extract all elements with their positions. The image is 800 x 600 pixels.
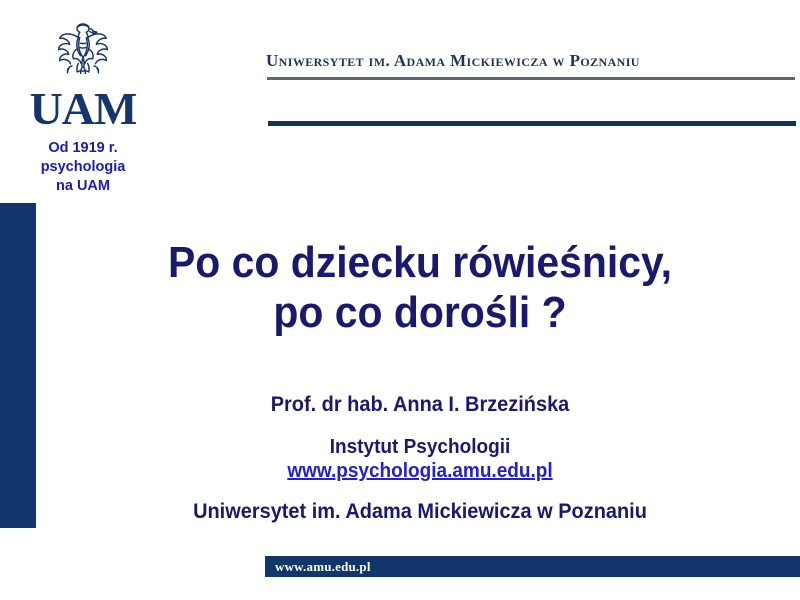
footer-url: www.amu.edu.pl xyxy=(275,559,371,575)
header-rule-navy xyxy=(268,121,796,126)
title-line-2: po co dorośli ? xyxy=(85,288,755,338)
affiliation-university: Uniwersytet im. Adama Mickiewicza w Pozn… xyxy=(78,500,762,523)
left-accent-bar xyxy=(0,203,36,528)
psychology-tagline: Od 1919 r. psychologia na UAM xyxy=(8,139,158,196)
institute-name: Instytut Psychologii xyxy=(78,436,762,459)
title-slide: UAM Od 1919 r. psychologia na UAM Uniwer… xyxy=(0,0,800,600)
polish-eagle-emblem-icon xyxy=(40,18,126,92)
uam-wordmark: UAM xyxy=(8,86,158,132)
university-header: Uniwersytet im. Adama Mickiewicza w Pozn… xyxy=(266,51,640,71)
tagline-line-1: Od 1919 r. xyxy=(8,139,158,158)
tagline-line-2: psychologia xyxy=(8,158,158,177)
author-name: Prof. dr hab. Anna I. Brzezińska xyxy=(78,393,762,416)
title-line-1: Po co dziecku rówieśnicy, xyxy=(85,238,755,288)
author-block: Prof. dr hab. Anna I. Brzezińska Instytu… xyxy=(78,393,762,523)
institute-url-link[interactable]: www.psychologia.amu.edu.pl xyxy=(78,459,762,483)
slide-title: Po co dziecku rówieśnicy, po co dorośli … xyxy=(85,238,755,338)
uam-logo-block: UAM Od 1919 r. psychologia na UAM xyxy=(8,18,158,196)
tagline-line-3: na UAM xyxy=(8,177,158,196)
header-rule-gray xyxy=(267,77,795,80)
